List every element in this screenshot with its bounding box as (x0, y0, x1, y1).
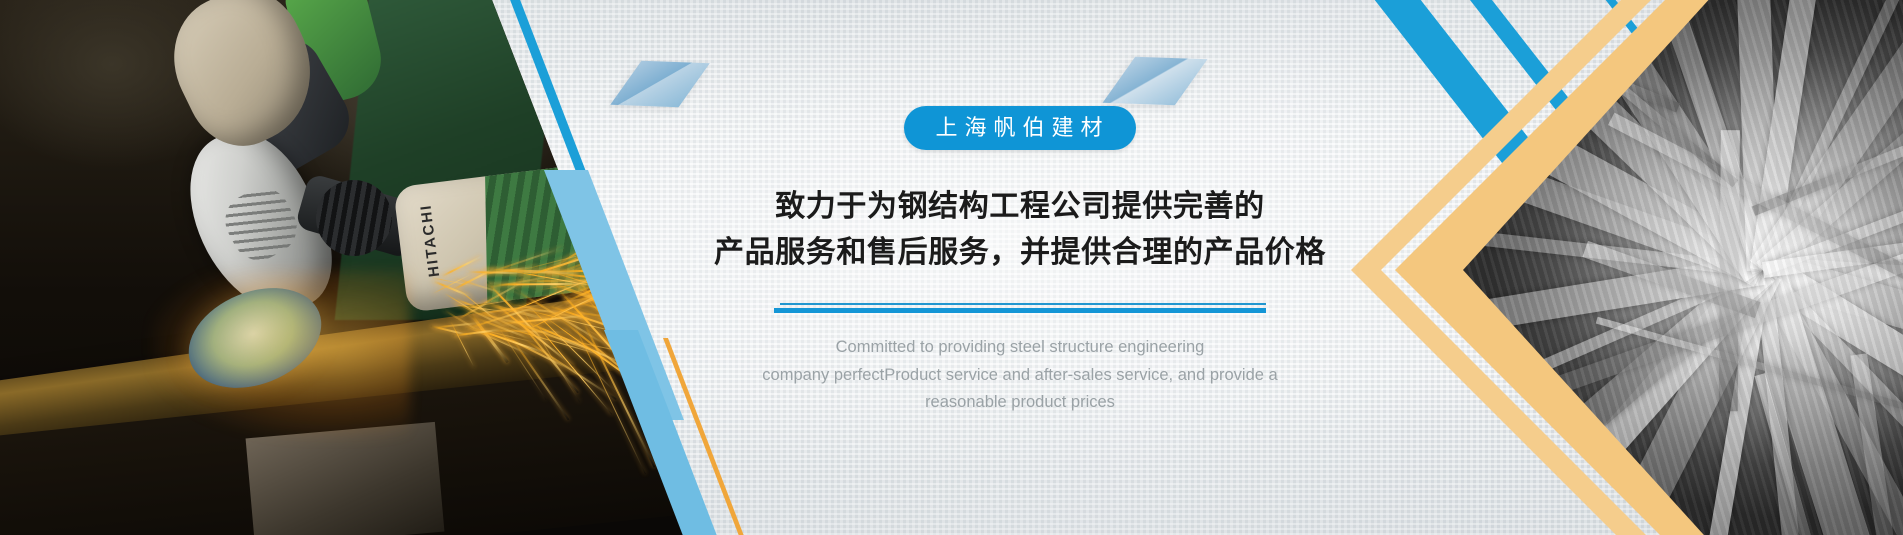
steel-photo-shading (1463, 0, 1903, 535)
hero-banner: HITACHI 上海帆伯建材 致力于为钢结构工程公司提供完善的 产品服务和 (0, 0, 1903, 535)
right-photo-steel-structure (1463, 0, 1903, 535)
company-badge: 上海帆伯建材 (904, 106, 1135, 150)
headline-line-1: 致力于为钢结构工程公司提供完善的 (714, 184, 1326, 230)
divider-thin-line (780, 303, 1266, 305)
divider-thick-line (774, 308, 1266, 313)
subtext-line-1: Committed to providing steel structure e… (710, 334, 1330, 361)
headline-line-2: 产品服务和售后服务，并提供合理的产品价格 (714, 230, 1326, 276)
divider (774, 303, 1266, 312)
subtext-line-2: company perfectProduct service and after… (710, 362, 1330, 389)
subtext-line-3: reasonable product prices (710, 389, 1330, 416)
banner-content: 上海帆伯建材 致力于为钢结构工程公司提供完善的 产品服务和售后服务，并提供合理的… (640, 0, 1400, 535)
headline: 致力于为钢结构工程公司提供完善的 产品服务和售后服务，并提供合理的产品价格 (714, 184, 1326, 275)
subtext: Committed to providing steel structure e… (710, 334, 1330, 416)
